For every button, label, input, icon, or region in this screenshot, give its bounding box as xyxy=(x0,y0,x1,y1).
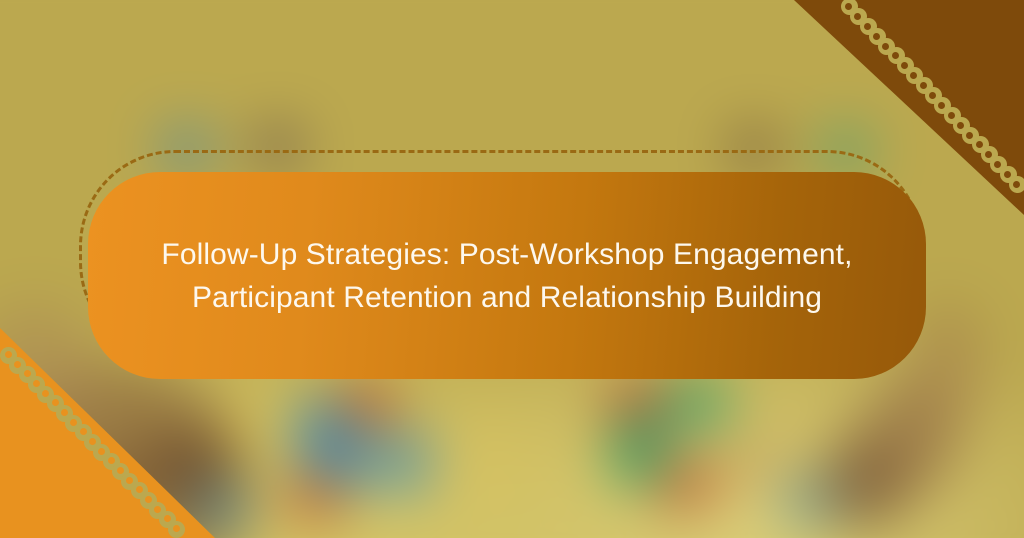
rail-dot xyxy=(145,496,152,503)
rail-dot xyxy=(24,370,31,377)
rail-dot xyxy=(14,361,21,368)
background-blob xyxy=(656,459,716,511)
rail-dot xyxy=(864,23,871,30)
background-blob xyxy=(423,410,542,507)
background-blob xyxy=(229,394,305,459)
title-block: Follow-Up Strategies: Post-Workshop Enga… xyxy=(109,233,904,319)
rail-dot xyxy=(873,33,880,40)
rail-dot xyxy=(98,448,105,455)
background-blob xyxy=(666,380,729,429)
presentation-slide: Follow-Up Strategies: Post-Workshop Enga… xyxy=(0,0,1024,538)
rail-dot xyxy=(52,399,59,406)
background-blob xyxy=(715,432,791,495)
rail-dot xyxy=(33,380,40,387)
rail-dot xyxy=(966,132,973,139)
rail-dot xyxy=(164,515,171,522)
rail-dot xyxy=(5,351,12,358)
rail-dot xyxy=(42,390,49,397)
title-line-2: Participant Retention and Relationship B… xyxy=(161,276,852,319)
rail-dot xyxy=(80,428,87,435)
background-blob xyxy=(612,421,660,488)
rail-dot xyxy=(1013,181,1020,188)
rail-dot xyxy=(126,477,133,484)
rail-dot xyxy=(957,122,964,129)
rail-dot xyxy=(929,92,936,99)
rail-dot xyxy=(61,409,68,416)
rail-dot xyxy=(1004,171,1011,178)
rail-dot xyxy=(882,43,889,50)
rail-dot xyxy=(89,438,96,445)
rail-dot xyxy=(920,82,927,89)
title-card: Follow-Up Strategies: Post-Workshop Enga… xyxy=(88,172,926,379)
rail-dot xyxy=(70,419,77,426)
rail-dot xyxy=(117,467,124,474)
rail-dot xyxy=(108,457,115,464)
background-blob xyxy=(283,470,348,524)
background-blob xyxy=(339,380,395,432)
rail-dot xyxy=(948,112,955,119)
rail-dot xyxy=(173,525,180,532)
rail-dot xyxy=(154,506,161,513)
rail-dot xyxy=(845,3,852,10)
rail-dot xyxy=(136,486,143,493)
title-line-1: Follow-Up Strategies: Post-Workshop Enga… xyxy=(161,233,852,276)
